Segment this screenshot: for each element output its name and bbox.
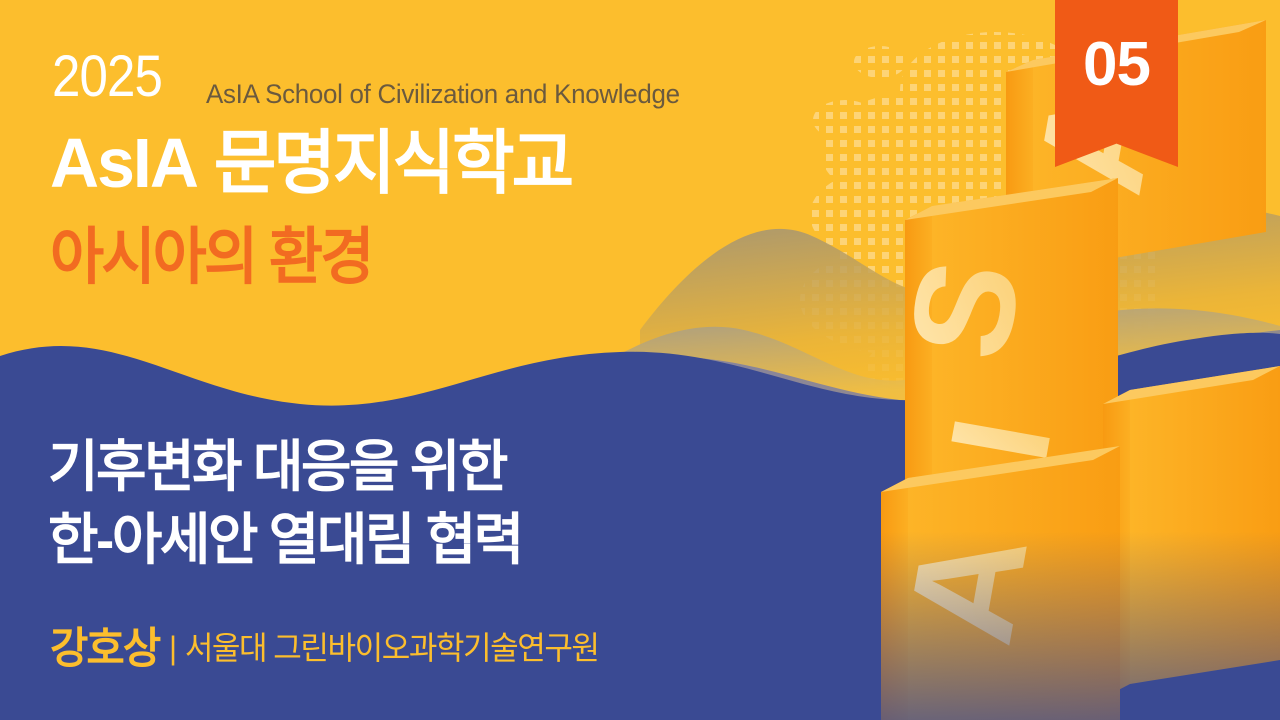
speaker-affiliation: 서울대 그린바이오과학기술연구원 [185,630,599,666]
program-title: AsIA 문명지식학교 [50,126,571,200]
program-title-latin: AsIA [50,124,197,202]
speaker-name: 강호상 [50,625,159,673]
program-theme: 아시아의 환경 [50,225,372,291]
lecture-title-line2: 한-아세안 열대림 협력 [48,503,522,576]
lecture-title-line1: 기후변화 대응을 위한 [48,435,506,498]
program-title-korean: 문명지식학교 [214,124,571,202]
english-subtitle: AsIA School of Civilization and Knowledg… [206,79,680,109]
episode-ribbon-badge: 05 [1055,0,1178,167]
speaker-divider: | [169,630,177,666]
lecture-title: 기후변화 대응을 위한 한-아세안 열대림 협력 [48,430,522,576]
poster-canvas: A S I [0,0,1280,720]
episode-number: 05 [1055,34,1178,96]
year-label: 2025 [52,48,162,106]
content-layer: 2025 AsIA School of Civilization and Kno… [0,0,1280,720]
speaker-credit: 강호상|서울대 그린바이오과학기술연구원 [50,614,599,676]
